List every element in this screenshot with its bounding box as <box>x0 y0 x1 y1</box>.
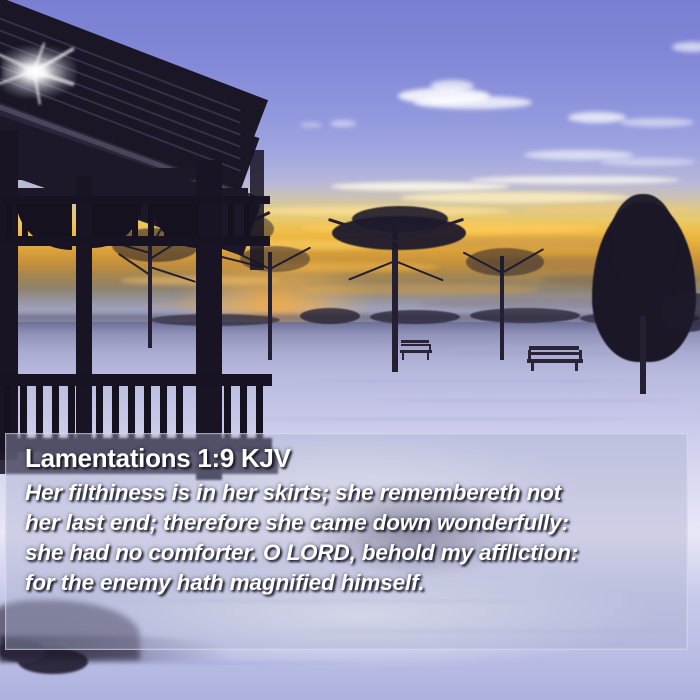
verse-image-canvas: Lamentations 1:9 KJV Her filthiness is i… <box>0 0 700 700</box>
tree-canopy <box>178 210 274 248</box>
snow-ripple <box>60 662 360 664</box>
verse-line: she had no comforter. O LORD, behold my … <box>25 538 677 568</box>
verse-line: for the enemy hath magnified himself. <box>25 568 677 598</box>
tree-branch <box>395 260 444 281</box>
verse-reference: Lamentations 1:9 KJV <box>25 442 677 474</box>
cloud-wisp <box>568 112 626 123</box>
verse-overlay-panel: Lamentations 1:9 KJV Her filthiness is i… <box>5 433 688 650</box>
tree-canopy <box>240 246 310 272</box>
cloud-wisp <box>430 80 474 92</box>
tree-silhouettes <box>0 196 700 346</box>
distant-tree <box>470 308 580 323</box>
evergreen-trunk <box>640 316 646 394</box>
snow-ripple <box>250 418 630 420</box>
verse-content: Lamentations 1:9 KJV Her filthiness is i… <box>25 442 677 598</box>
snow-ripple <box>380 400 680 402</box>
verse-line: Her filthiness is in her skirts; she rem… <box>25 478 677 508</box>
cloud-wisp <box>330 120 356 127</box>
cloud-wisp <box>414 96 532 109</box>
tree-branch <box>150 266 196 283</box>
snow-ripple <box>300 380 640 382</box>
verse-text: Her filthiness is in her skirts; she rem… <box>25 478 677 598</box>
cloud-wisp <box>600 158 696 166</box>
verse-line: her last end; therefore she came down wo… <box>25 508 677 538</box>
park-bench-left <box>400 340 434 360</box>
sunset-cloud-streak <box>330 182 510 191</box>
park-bench-right <box>527 346 585 370</box>
sunset-cloud-streak <box>470 176 680 184</box>
distant-tree <box>300 308 360 324</box>
tree-branch <box>348 260 395 281</box>
cloud-wisp <box>620 118 694 127</box>
tree-canopy <box>466 248 544 276</box>
evergreen-tree <box>608 194 678 286</box>
distant-tree <box>370 310 460 324</box>
cloud-wisp <box>300 122 322 128</box>
